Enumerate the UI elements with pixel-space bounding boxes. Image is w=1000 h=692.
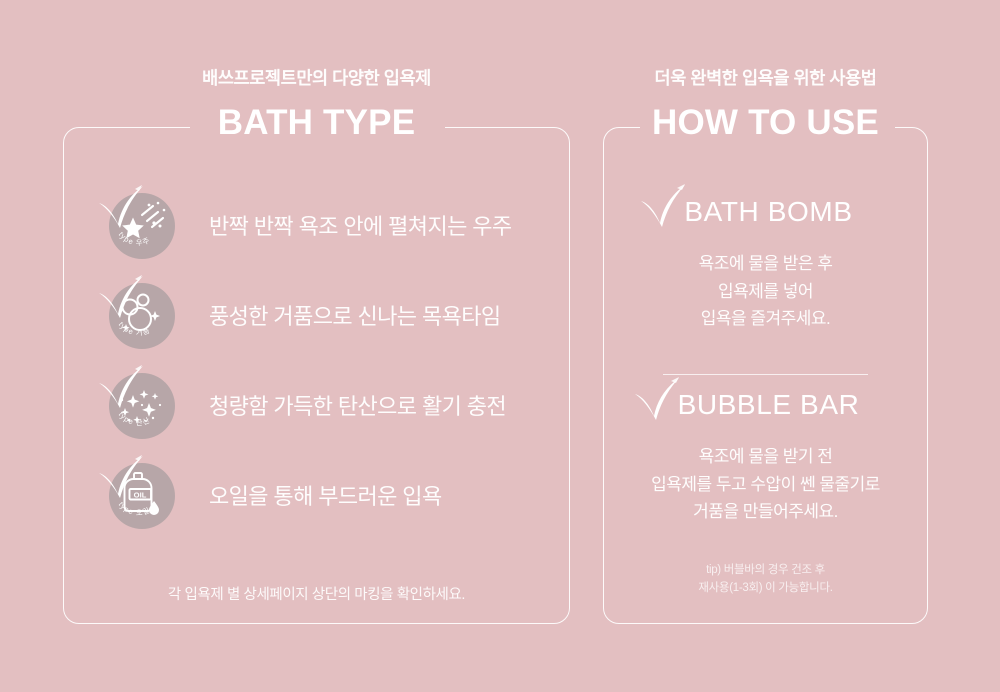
tip-line: 재사용(1-3회) 이 가능합니다. (603, 580, 928, 598)
bath-type-row[interactable]: type 거품 풍성한 거품으로 신나는 목욕타임 (63, 270, 570, 360)
usage-heading: BUBBLE BAR (672, 389, 860, 421)
usage-line: 욕조에 물을 받은 후 (603, 250, 928, 278)
check-mark-icon (636, 180, 694, 234)
usage-description: 욕조에 물을 받은 후 입욕제를 넣어 입욕을 즐겨주세요. (603, 250, 928, 333)
check-mark-icon (93, 359, 153, 415)
infographic-stage: 배쓰프로젝트만의 다양한 입욕제 BATH TYPE (0, 0, 1000, 692)
bath-type-subtitle: 배쓰프로젝트만의 다양한 입욕제 (63, 68, 570, 89)
type-badge-oil: OIL type 오일 (105, 459, 177, 531)
usage-bath-bomb: BATH BOMB 욕조에 물을 받은 후 입욕제를 넣어 입욕을 즐겨주세요. (603, 196, 928, 333)
bath-type-list: type 우주 반짝 반짝 욕조 안에 펼쳐지는 우주 (63, 180, 570, 540)
how-to-use-title: HOW TO USE (603, 101, 928, 145)
bath-type-description: 오일을 통해 부드러운 입욕 (209, 479, 442, 511)
bath-type-heading: 배쓰프로젝트만의 다양한 입욕제 BATH TYPE (63, 68, 570, 145)
bath-type-description: 반짝 반짝 욕조 안에 펼쳐지는 우주 (209, 209, 512, 241)
usage-heading: BATH BOMB (678, 196, 852, 228)
usage-title: BATH BOMB (684, 196, 852, 227)
tip-line: tip) 버블바의 경우 건조 후 (603, 562, 928, 580)
bath-type-title: BATH TYPE (63, 101, 570, 145)
bath-type-row[interactable]: OIL type 오일 오일을 통해 부드러운 입욕 (63, 450, 570, 540)
bath-type-row[interactable]: type 탄산 청량함 가득한 탄산으로 활기 충전 (63, 360, 570, 450)
check-mark-icon (93, 449, 153, 505)
bath-type-description: 풍성한 거품으로 신나는 목욕타임 (209, 299, 501, 331)
bath-type-description: 청량함 가득한 탄산으로 활기 충전 (209, 389, 506, 421)
check-mark-icon (630, 373, 688, 427)
usage-line: 입욕제를 넣어 (603, 278, 928, 306)
usage-divider (663, 374, 868, 375)
usage-line: 거품을 만들어주세요. (603, 498, 928, 526)
type-badge-bubble: type 거품 (105, 279, 177, 351)
type-badge-carbonation: type 탄산 (105, 369, 177, 441)
usage-line: 욕조에 물을 받기 전 (603, 443, 928, 471)
type-badge-universe: type 우주 (105, 189, 177, 261)
usage-tip: tip) 버블바의 경우 건조 후 재사용(1-3회) 이 가능합니다. (603, 562, 928, 598)
usage-title: BUBBLE BAR (678, 389, 860, 420)
usage-line: 입욕제를 두고 수압이 쎈 물줄기로 (603, 471, 928, 499)
how-to-use-subtitle: 더욱 완벽한 입욕을 위한 사용법 (603, 68, 928, 89)
check-mark-icon (93, 179, 153, 235)
check-mark-icon (93, 269, 153, 325)
how-to-use-heading: 더욱 완벽한 입욕을 위한 사용법 HOW TO USE (603, 68, 928, 145)
bath-type-footnote: 각 입욕제 별 상세페이지 상단의 마킹을 확인하세요. (63, 583, 570, 604)
usage-bubble-bar: BUBBLE BAR 욕조에 물을 받기 전 입욕제를 두고 수압이 쎈 물줄기… (603, 389, 928, 526)
usage-description: 욕조에 물을 받기 전 입욕제를 두고 수압이 쎈 물줄기로 거품을 만들어주세… (603, 443, 928, 526)
usage-line: 입욕을 즐겨주세요. (603, 305, 928, 333)
bath-type-row[interactable]: type 우주 반짝 반짝 욕조 안에 펼쳐지는 우주 (63, 180, 570, 270)
